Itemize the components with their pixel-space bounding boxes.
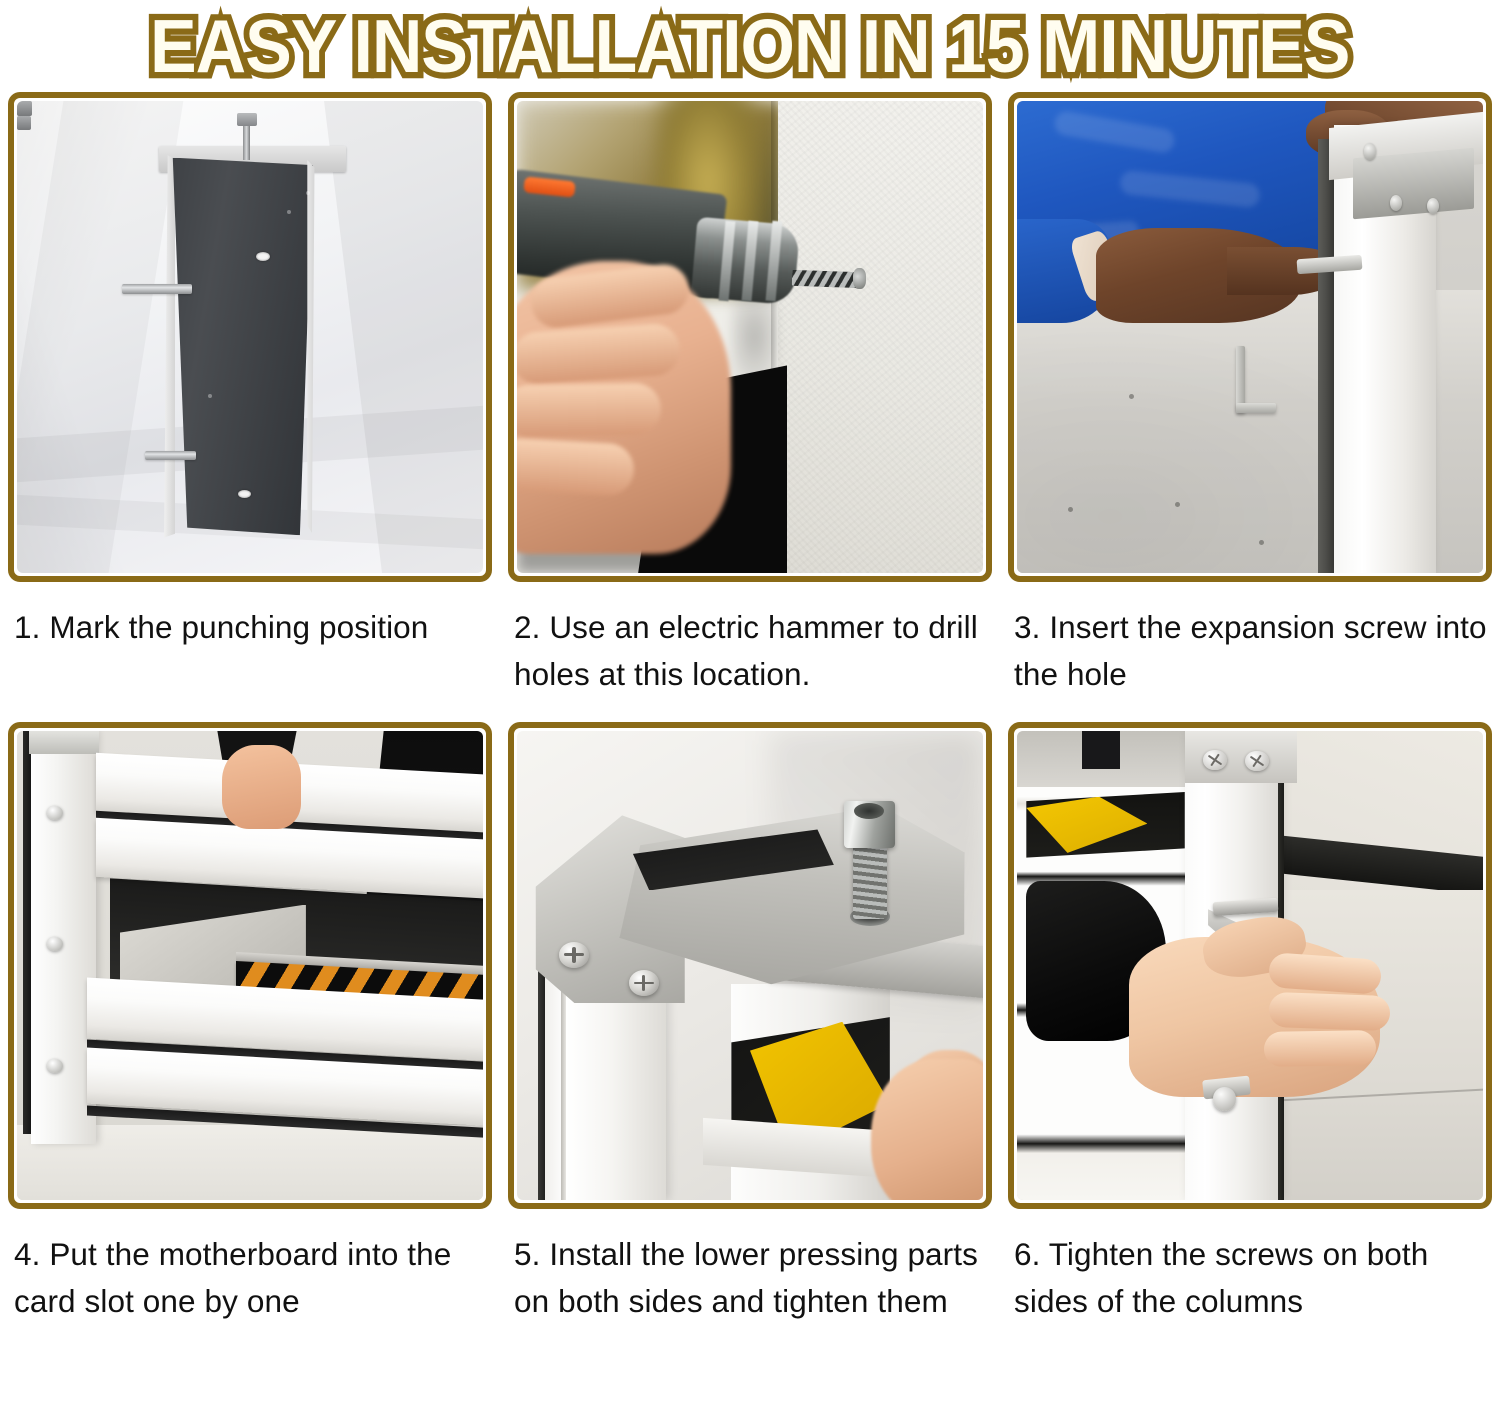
column-screw-2 (1245, 751, 1268, 772)
step-4-caption: 4. Put the motherboard into the card slo… (8, 1209, 492, 1359)
column-screw-1 (1203, 750, 1226, 771)
anchor-rod-upper (122, 284, 192, 294)
marking-hole-upper (256, 252, 270, 261)
step-5-photo-frame (508, 722, 992, 1209)
drill-bit (792, 270, 862, 288)
photo-mark-punching-position (17, 101, 483, 573)
step-card-2: 2. Use an electric hammer to drill holes… (508, 92, 992, 722)
photo-insert-motherboard (17, 731, 483, 1200)
step-card-4: 4. Put the motherboard into the card slo… (8, 722, 492, 1359)
step-1-photo-frame (8, 92, 492, 582)
step-1-caption: 1. Mark the punching position (8, 582, 492, 722)
step-card-5: 5. Install the lower pressing parts on b… (508, 722, 992, 1359)
step-6-caption: 6. Tighten the screws on both sides of t… (1008, 1209, 1492, 1359)
step-card-3: 3. Insert the expansion screw into the h… (1008, 92, 1492, 722)
top-bolt (237, 113, 257, 125)
threaded-bolt (853, 844, 888, 919)
page-title: EASY INSTALLATION IN 15 MINUTES (150, 8, 1349, 83)
step-4-photo-frame (8, 722, 492, 1209)
step-3-photo-frame (1008, 92, 1492, 582)
bracket-screw-1 (559, 942, 589, 968)
anchor-rod-lower (145, 451, 196, 460)
allen-key-arm (1236, 403, 1276, 412)
steps-row-top: 1. Mark the punching position (0, 92, 1500, 722)
photo-insert-expansion-screw (1017, 101, 1483, 573)
wall-surface (778, 101, 983, 573)
step-card-6: 6. Tighten the screws on both sides of t… (1008, 722, 1492, 1359)
header-banner: EASY INSTALLATION IN 15 MINUTES (0, 0, 1500, 92)
photo-drill-holes (517, 101, 983, 573)
photo-tighten-column-screws (1017, 731, 1483, 1200)
photo-lower-pressing-parts (517, 731, 983, 1200)
steps-row-bottom: 4. Put the motherboard into the card slo… (0, 722, 1500, 1359)
step-5-caption: 5. Install the lower pressing parts on b… (508, 1209, 992, 1359)
column-base-plate (168, 158, 312, 536)
step-3-caption: 3. Insert the expansion screw into the h… (1008, 582, 1492, 722)
worker-hand (222, 745, 301, 829)
bracket-screw-2 (629, 970, 659, 996)
column-screw-3 (1213, 1087, 1236, 1110)
step-2-photo-frame (508, 92, 992, 582)
step-card-1: 1. Mark the punching position (8, 92, 492, 722)
step-2-caption: 2. Use an electric hammer to drill holes… (508, 582, 992, 722)
step-6-photo-frame (1008, 722, 1492, 1209)
